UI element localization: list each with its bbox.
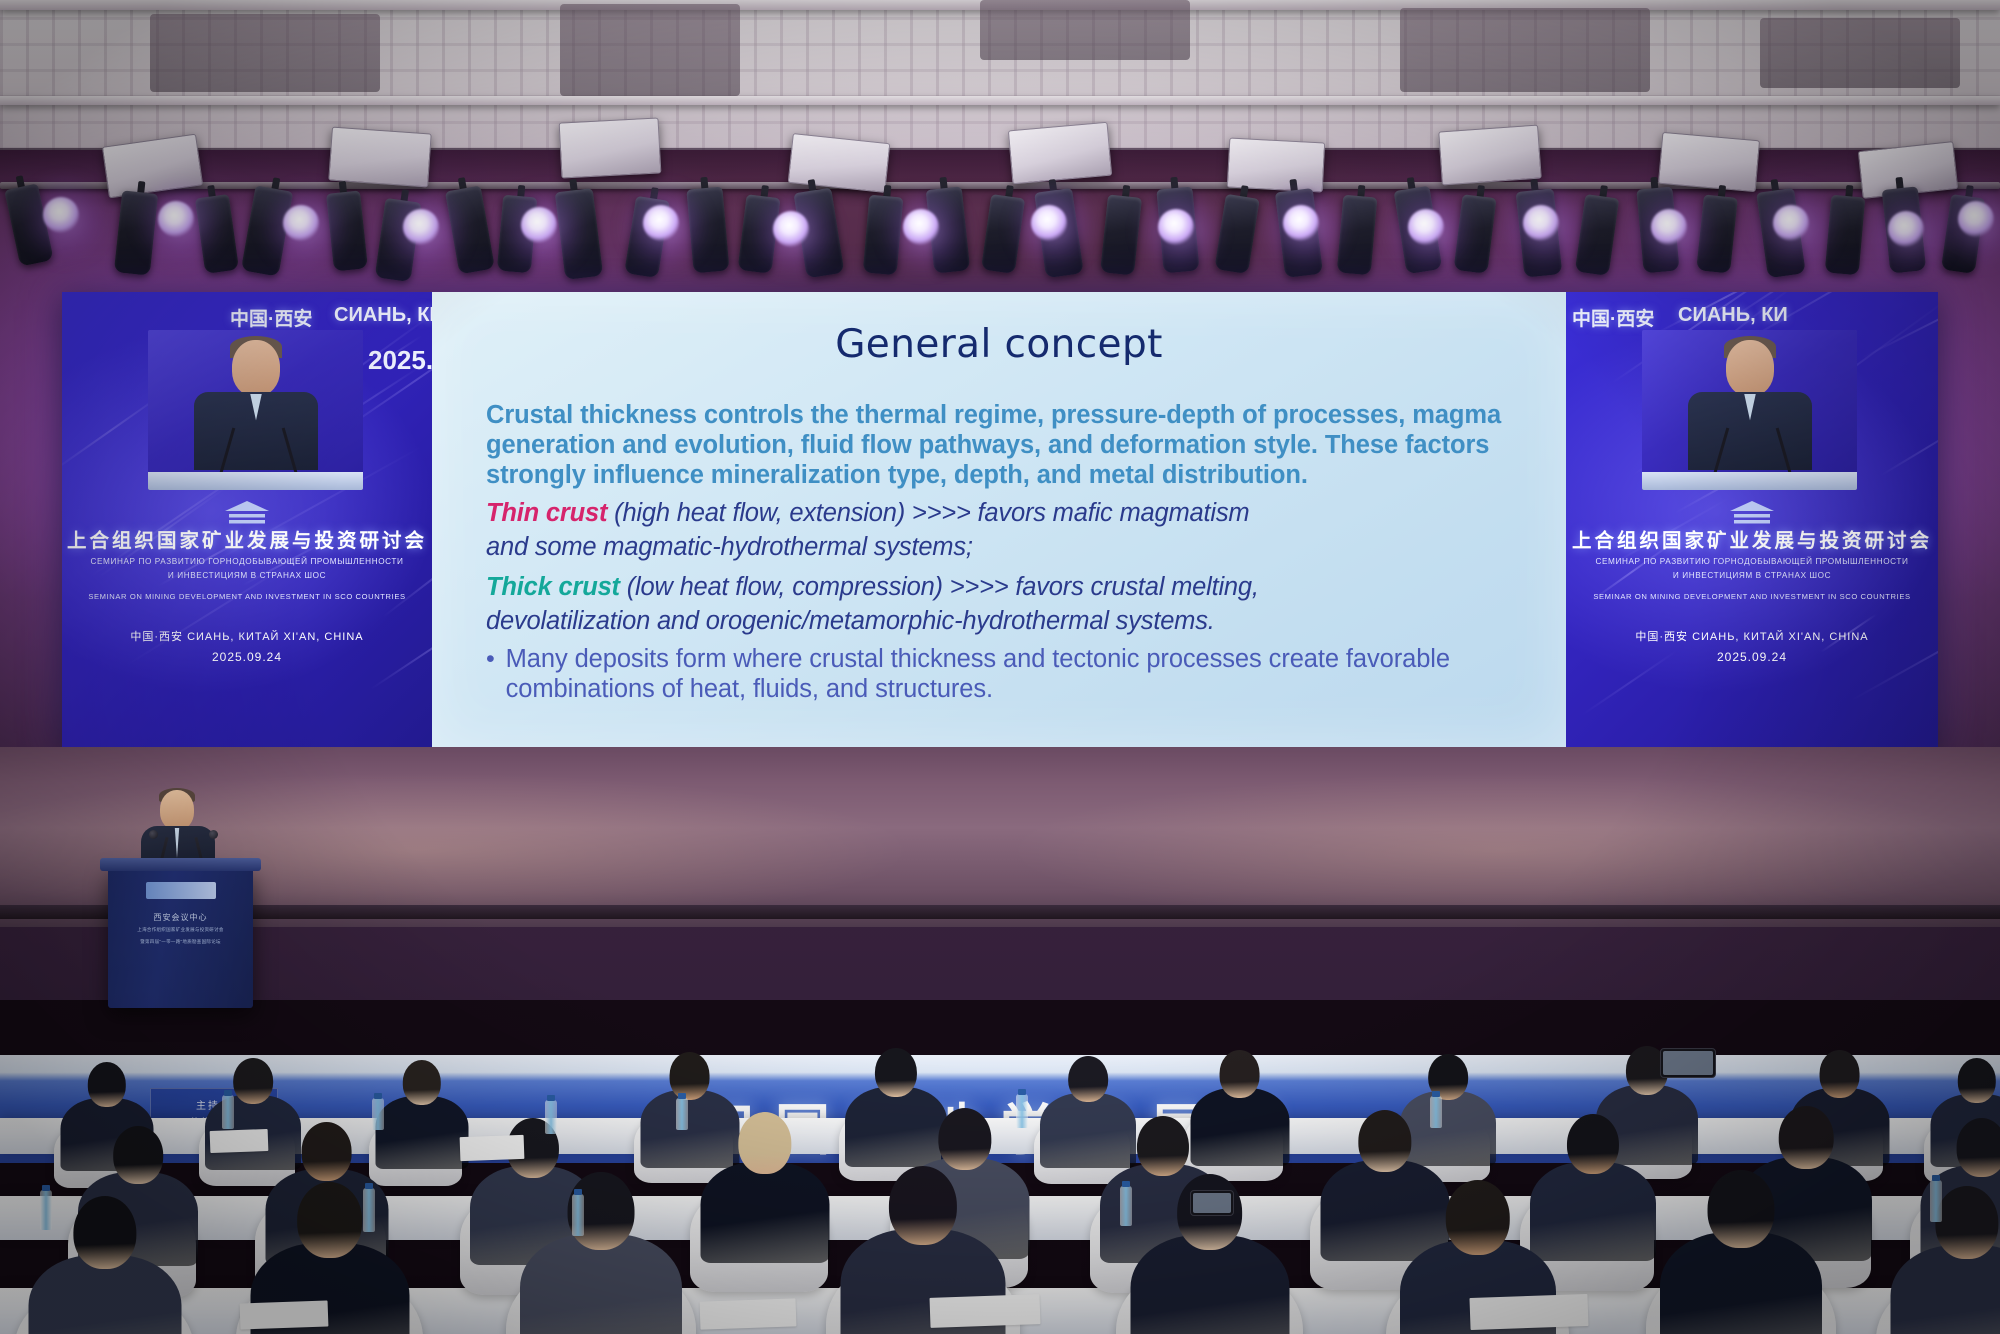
podium: 西安会议中心 上海合作组织国家矿业发展与投资研讨会 暨第四届"一带一路"地质勘查… [108, 868, 253, 1008]
water-bottle [676, 1098, 688, 1130]
branding-subtitle-en-right: SEMINAR ON MINING DEVELOPMENT AND INVEST… [1566, 591, 1938, 602]
ceiling-panel-light [559, 117, 662, 178]
water-bottle-cap [1018, 1089, 1026, 1095]
audience-member-head [738, 1112, 791, 1174]
slide-paragraph: Crustal thickness controls the thermal r… [486, 400, 1516, 490]
water-bottle [40, 1190, 52, 1230]
stage-light-bulb [1158, 209, 1194, 245]
slide-content: General concept Crustal thickness contro… [432, 292, 1566, 747]
podium-title: 西安会议中心 [108, 912, 253, 923]
stage-light-bulb [43, 197, 79, 233]
stage-light-bulb [158, 201, 194, 237]
branding-location-left: 中国·西安 СИАНЬ, КИТАЙ XI'AN, CHINA [62, 628, 432, 644]
ceiling-panel-light [788, 133, 891, 193]
stage-light-bulb [283, 205, 319, 241]
audience-member-head [73, 1196, 136, 1269]
water-bottle-cap [547, 1095, 555, 1101]
stage-light-bulb [1888, 211, 1924, 247]
water-bottle-cap [574, 1189, 582, 1195]
audience-member-head [301, 1122, 352, 1181]
live-speaker-head [160, 790, 194, 830]
ceiling-panel-light [1008, 122, 1112, 185]
decorative-streak [1861, 292, 1938, 359]
branding-subtitle-ru2-left: И ИНВЕСТИЦИЯМ В СТРАНАХ ШОС [62, 570, 432, 582]
podium-microphone-right-head [209, 830, 218, 839]
stage-light-bulb [1031, 205, 1067, 241]
audience-member-head [297, 1182, 363, 1258]
ceiling-recess [1760, 18, 1960, 88]
ceiling-panel-light [1658, 132, 1760, 192]
mobile-phone-raised-screen [1663, 1051, 1713, 1075]
branding-title-right: 上合组织国家矿业发展与投资研讨会 [1566, 524, 1938, 553]
audience-member-front-7 [1890, 1186, 2000, 1334]
ceiling-recess [980, 0, 1190, 60]
audience-member-torso [700, 1162, 829, 1263]
podium-logo [146, 882, 216, 899]
document-paper [930, 1294, 1041, 1328]
branding-date-right: 2025.09.24 [1566, 650, 1938, 664]
stage-light-bulb [403, 209, 439, 245]
branding-location-right: 中国·西安 СИАНЬ, КИТАЙ XI'AN, CHINA [1566, 628, 1938, 644]
audience-member-head [1708, 1170, 1775, 1248]
speaker-video-right [1642, 330, 1857, 490]
water-bottle-cap [224, 1090, 232, 1096]
audience-member-head [669, 1052, 710, 1100]
audience-member-torso [375, 1096, 468, 1169]
water-bottle [545, 1100, 557, 1134]
podium-surface-left [148, 472, 363, 490]
left-top-chinese-label: 中国·西安 [230, 304, 312, 331]
audience-member-head [113, 1126, 163, 1184]
ceiling-panel-light [1438, 125, 1542, 186]
water-bottle-cap [1122, 1181, 1130, 1187]
document-paper [1469, 1294, 1588, 1330]
document-paper [240, 1300, 329, 1329]
audience-member-mid-3 [700, 1112, 829, 1275]
stage-light-bulb [1283, 205, 1319, 241]
branding-subtitle-en-left: SEMINAR ON MINING DEVELOPMENT AND INVEST… [62, 591, 432, 602]
podium-subtitle-1: 上海合作组织国家矿业发展与投资研讨会 [108, 926, 253, 934]
audience-member-head [1935, 1186, 1998, 1259]
document-paper [460, 1135, 525, 1161]
slide-body: Crustal thickness controls the thermal r… [486, 400, 1516, 705]
slide-title: General concept [432, 322, 1566, 367]
audience-member-head [1068, 1056, 1108, 1102]
ceiling-panel-light [328, 127, 432, 188]
water-bottle [1120, 1186, 1132, 1226]
ceiling-beam [0, 96, 2000, 105]
audience-member-front-2 [520, 1172, 682, 1334]
audience-member-head [87, 1062, 125, 1107]
water-bottle-cap [1932, 1175, 1940, 1181]
water-bottle [572, 1194, 584, 1236]
stage-light-bulb [1958, 201, 1994, 237]
thick-crust-keyword: Thick crust [486, 573, 620, 601]
audience-member-head [402, 1060, 440, 1105]
right-top-russian-label: СИАНЬ, КИ [1678, 304, 1788, 327]
stage-light-bulb [773, 211, 809, 247]
mobile-phone-screen [1193, 1193, 1231, 1213]
stage-floor-reflection [0, 760, 2000, 910]
audience-member-front-6 [1660, 1170, 1822, 1334]
branding-title-left: 上合组织国家矿业发展与投资研讨会 [62, 524, 432, 553]
podium-surface-right [1642, 472, 1857, 490]
left-top-russian-label: СИАНЬ, КИ [334, 304, 432, 327]
thin-crust-rest: (high heat flow, extension) >>>> favors … [607, 499, 1249, 527]
water-bottle-cap [1432, 1091, 1440, 1097]
stage-light-bulb [643, 205, 679, 241]
stage-edge [0, 905, 2000, 919]
water-bottle [222, 1095, 234, 1129]
right-top-chinese-label: 中国·西安 [1572, 304, 1654, 331]
thin-crust-keyword: Thin crust [486, 499, 607, 527]
audience-member-head [233, 1058, 273, 1104]
deposits-bullet-line1: Many deposits form where crustal thickne… [506, 645, 1262, 673]
podium-microphone-left-head [149, 830, 158, 839]
thin-crust-line-1: Thin crust (high heat flow, extension) >… [486, 498, 1516, 529]
audience-member-back-2 [375, 1060, 468, 1178]
branding-date-left: 2025.09.24 [62, 650, 432, 664]
bullet-marker-icon: • [486, 644, 495, 705]
stage-light-bulb [1408, 209, 1444, 245]
water-bottle [1430, 1096, 1442, 1128]
branding-subtitle-ru1-right: СЕМИНАР ПО РАЗВИТИЮ ГОРНОДОБЫВАЮЩЕЙ ПРОМ… [1566, 556, 1938, 568]
decorative-streak [62, 292, 129, 307]
water-bottle-cap [365, 1183, 373, 1189]
audience-member-head [875, 1048, 917, 1097]
audience-member-head [1219, 1050, 1260, 1098]
stage-light-bulb [521, 207, 557, 243]
audience-member-head [1567, 1114, 1619, 1174]
document-paper [210, 1129, 269, 1153]
deposits-bullet: • Many deposits form where crustal thick… [486, 644, 1516, 705]
ceiling-recess [150, 14, 380, 92]
thick-crust-rest: (low heat flow, compression) >>>> favors… [620, 573, 1259, 601]
speaker-video-left [148, 330, 363, 490]
thin-crust-line-2: and some magmatic-hydrothermal systems; [486, 532, 1516, 563]
document-paper [700, 1298, 797, 1329]
stage-light-bulb [903, 209, 939, 245]
water-bottle-cap [42, 1185, 50, 1191]
presentation-screen: 中国·西安 СИАНЬ, КИ 2025.0 [62, 292, 1938, 747]
water-bottle [363, 1188, 375, 1232]
mobile-phone[interactable] [1190, 1190, 1234, 1216]
conference-hall-photo: 中国·西安 СИАНЬ, КИ 2025.0 [0, 0, 2000, 1334]
podium-subtitle-2: 暨第四届"一带一路"地质勘查国际论坛 [108, 938, 253, 946]
ceiling-recess [560, 4, 740, 96]
podium-top-ledge [100, 858, 261, 871]
audience-member-head [938, 1108, 991, 1170]
speaker-head-right [1726, 340, 1774, 396]
water-bottle [1016, 1094, 1028, 1128]
audience-member-torso [1890, 1245, 2000, 1334]
ceiling-recess [1400, 8, 1650, 92]
screen-left-panel: 中国·西安 СИАНЬ, КИ 2025.0 [62, 292, 432, 747]
left-top-date-label: 2025.0 [368, 345, 432, 376]
stage-light-bulb [1523, 205, 1559, 241]
water-bottle-cap [374, 1093, 382, 1099]
audience-member-head [1957, 1058, 1995, 1103]
water-bottle [372, 1098, 384, 1130]
water-bottle [1930, 1180, 1942, 1222]
decorative-streak [1879, 418, 1938, 476]
branding-subtitle-ru2-right: И ИНВЕСТИЦИЯМ В СТРАНАХ ШОС [1566, 570, 1938, 582]
audience-member-head [1137, 1116, 1189, 1176]
stage-light-bulb [1651, 209, 1687, 245]
audience-member-head [888, 1166, 956, 1245]
mobile-phone-raised[interactable] [1660, 1048, 1716, 1078]
audience-member-head [1779, 1106, 1834, 1169]
audience-member-head [1819, 1050, 1860, 1098]
audience-member-head [1446, 1180, 1510, 1255]
audience-member-head [1956, 1118, 2000, 1177]
screen-right-panel: 中国·西安 СИАНЬ, КИ 2025.0 上合组织国 [1566, 292, 1938, 747]
branding-subtitle-ru1-left: СЕМИНАР ПО РАЗВИТИЮ ГОРНОДОБЫВАЮЩЕЙ ПРОМ… [62, 556, 432, 568]
water-bottle-cap [678, 1093, 686, 1099]
thick-crust-line-1: Thick crust (low heat flow, compression)… [486, 572, 1516, 603]
thick-crust-line-2: devolatilization and orogenic/metamorphi… [486, 606, 1516, 637]
deposits-bullet-text: Many deposits form where crustal thickne… [506, 644, 1516, 705]
stage-light-bulb [1773, 205, 1809, 241]
speaker-head-left [232, 340, 280, 396]
audience-member-head [1358, 1110, 1411, 1172]
